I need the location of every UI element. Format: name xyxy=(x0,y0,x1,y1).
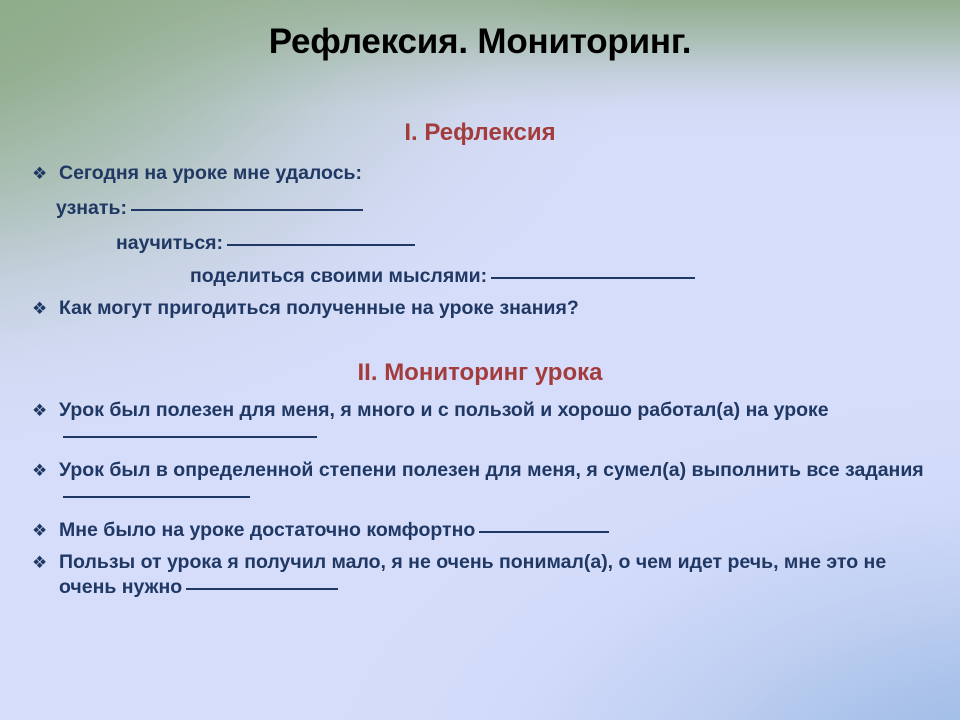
monitoring-item-blank[interactable] xyxy=(479,531,609,533)
slide-canvas: Рефлексия. Мониторинг. I. Рефлексия ❖ Се… xyxy=(0,0,960,720)
reflection-intro-text: Сегодня на уроке мне удалось: xyxy=(59,161,732,186)
monitoring-item-body: Урок был полезен для меня, я много и с п… xyxy=(59,398,940,448)
diamond-bullet-icon: ❖ xyxy=(32,398,59,423)
monitoring-item: ❖ Мне было на уроке достаточно комфортно xyxy=(32,518,940,543)
monitoring-item-body: Пользы от урока я получил мало, я не оче… xyxy=(59,550,940,600)
reflection-subitem-uznat-label: узнать: xyxy=(56,197,127,219)
monitoring-item-text: Урок был в определенной степени полезен … xyxy=(59,459,924,481)
diamond-bullet-icon: ❖ xyxy=(32,518,59,543)
reflection-intro-item: ❖ Сегодня на уроке мне удалось: xyxy=(32,161,732,186)
diamond-bullet-icon: ❖ xyxy=(32,161,59,186)
monitoring-item: ❖ Пользы от урока я получил мало, я не о… xyxy=(32,550,940,600)
reflection-subitem-podelitsya: поделиться своими мыслями: xyxy=(190,264,695,289)
reflection-subitem-uznat-blank[interactable] xyxy=(131,209,363,211)
monitoring-item: ❖ Урок был полезен для меня, я много и с… xyxy=(32,398,940,448)
reflection-subitem-nauchitsya-label: научиться: xyxy=(116,232,223,254)
monitoring-item-blank[interactable] xyxy=(63,496,250,498)
page-title: Рефлексия. Мониторинг. xyxy=(0,22,960,62)
reflection-subitem-nauchitsya-blank[interactable] xyxy=(227,244,415,246)
monitoring-item-blank[interactable] xyxy=(63,436,317,438)
reflection-question-text: Как могут пригодиться полученные на урок… xyxy=(59,296,832,321)
monitoring-item-text: Пользы от урока я получил мало, я не оче… xyxy=(59,551,886,598)
diamond-bullet-icon: ❖ xyxy=(32,458,59,483)
slide-content: Рефлексия. Мониторинг. I. Рефлексия ❖ Се… xyxy=(0,0,960,720)
monitoring-item-blank[interactable] xyxy=(186,588,338,590)
reflection-question-item: ❖ Как могут пригодиться полученные на ур… xyxy=(32,296,832,321)
section-heading-reflection: I. Рефлексия xyxy=(0,119,960,147)
monitoring-item: ❖ Урок был в определенной степени полезе… xyxy=(32,458,940,508)
monitoring-item-body: Урок был в определенной степени полезен … xyxy=(59,458,940,508)
reflection-subitem-podelitsya-blank[interactable] xyxy=(491,277,695,279)
monitoring-item-body: Мне было на уроке достаточно комфортно xyxy=(59,518,940,543)
diamond-bullet-icon: ❖ xyxy=(32,296,59,321)
diamond-bullet-icon: ❖ xyxy=(32,550,59,575)
reflection-subitem-podelitsya-label: поделиться своими мыслями: xyxy=(190,265,487,287)
reflection-subitem-nauchitsya: научиться: xyxy=(116,231,415,256)
monitoring-item-text: Урок был полезен для меня, я много и с п… xyxy=(59,399,829,421)
reflection-subitem-uznat: узнать: xyxy=(56,196,363,221)
section-heading-monitoring: II. Мониторинг урока xyxy=(0,359,960,387)
monitoring-item-text: Мне было на уроке достаточно комфортно xyxy=(59,519,475,541)
